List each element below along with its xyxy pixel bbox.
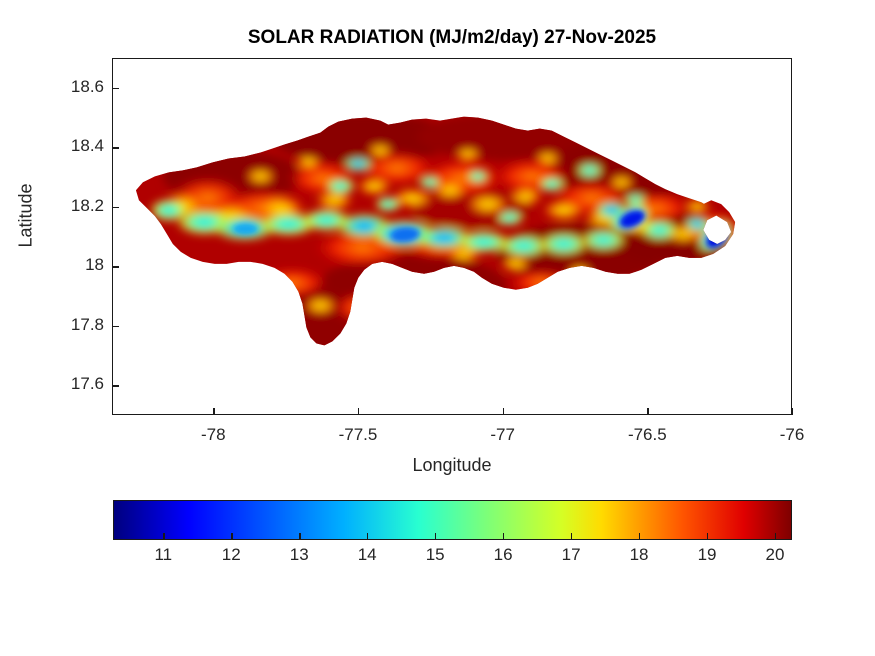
x-tick-label: -76.5 bbox=[607, 425, 687, 445]
y-tick-label: 18.6 bbox=[16, 77, 104, 97]
figure-canvas: SOLAR RADIATION (MJ/m2/day) 27-Nov-2025 bbox=[0, 0, 875, 656]
y-tick-label: 17.8 bbox=[16, 315, 104, 335]
y-tick-mark bbox=[112, 147, 119, 148]
colorbar[interactable] bbox=[113, 500, 792, 540]
x-axis-label: Longitude bbox=[112, 455, 792, 476]
colorbar-tick-label: 15 bbox=[415, 545, 455, 565]
colorbar-tick-label: 20 bbox=[755, 545, 795, 565]
x-tick-label: -76 bbox=[752, 425, 832, 445]
y-tick-mark bbox=[112, 385, 119, 386]
colorbar-tick-mark bbox=[639, 533, 640, 540]
colorbar-tick-mark bbox=[571, 533, 572, 540]
colorbar-gradient[interactable] bbox=[113, 500, 792, 540]
y-tick-mark bbox=[112, 266, 119, 267]
colorbar-tick-mark bbox=[435, 533, 436, 540]
y-axis-label: Latitude bbox=[16, 146, 37, 286]
x-tick-mark bbox=[792, 408, 793, 415]
y-tick-mark bbox=[112, 326, 119, 327]
x-tick-label: -78 bbox=[173, 425, 253, 445]
x-tick-label: -77 bbox=[463, 425, 543, 445]
x-tick-mark bbox=[647, 408, 648, 415]
colorbar-tick-label: 11 bbox=[143, 545, 183, 565]
x-tick-mark bbox=[503, 408, 504, 415]
y-tick-mark bbox=[112, 207, 119, 208]
x-tick-mark bbox=[358, 408, 359, 415]
colorbar-tick-mark bbox=[367, 533, 368, 540]
colorbar-tick-mark bbox=[775, 533, 776, 540]
colorbar-tick-mark bbox=[707, 533, 708, 540]
page-title: SOLAR RADIATION (MJ/m2/day) 27-Nov-2025 bbox=[112, 27, 792, 49]
colorbar-tick-label: 19 bbox=[687, 545, 727, 565]
x-tick-mark bbox=[213, 408, 214, 415]
colorbar-tick-mark bbox=[163, 533, 164, 540]
solar-radiation-heatmap bbox=[113, 59, 791, 414]
colorbar-tick-mark bbox=[503, 533, 504, 540]
colorbar-tick-label: 12 bbox=[211, 545, 251, 565]
colorbar-tick-label: 18 bbox=[619, 545, 659, 565]
colorbar-tick-label: 17 bbox=[551, 545, 591, 565]
colorbar-tick-label: 16 bbox=[483, 545, 523, 565]
x-tick-label: -77.5 bbox=[318, 425, 398, 445]
colorbar-tick-mark bbox=[299, 533, 300, 540]
map-axes[interactable] bbox=[112, 58, 792, 415]
y-tick-label: 17.6 bbox=[16, 374, 104, 394]
colorbar-tick-label: 13 bbox=[279, 545, 319, 565]
y-tick-mark bbox=[112, 88, 119, 89]
heatmap-field bbox=[113, 59, 791, 414]
colorbar-tick-label: 14 bbox=[347, 545, 387, 565]
colorbar-tick-mark bbox=[231, 533, 232, 540]
